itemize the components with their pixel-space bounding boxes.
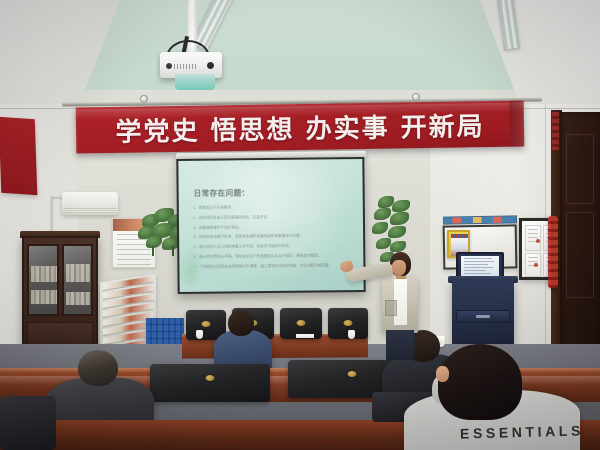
attendee-grey-coat-head [78, 350, 118, 386]
hoodie-brand-text: ESSENTIALS [460, 422, 584, 441]
slide-bullet: 2、班前班后会未认真开展落实到位，记录不全。 [193, 215, 353, 220]
ceiling-green-panel [60, 0, 550, 90]
projector-lens [175, 74, 215, 90]
meeting-room-photo: 学党史 悟思想 办实事 开新局 [0, 0, 600, 450]
projector-knob-left [166, 63, 172, 69]
projector-knob-right [207, 62, 214, 69]
room-door[interactable] [560, 112, 600, 356]
red-tassel-upper [552, 112, 559, 150]
red-slogan-banner: 学党史 悟思想 办实事 开新局 [76, 100, 525, 153]
whiteboard-header-strip [443, 215, 517, 224]
water-cup-2 [348, 330, 355, 339]
bookcase-glass-door-left[interactable] [27, 244, 59, 316]
plant-reflection-on-screen [178, 246, 203, 286]
chair-mid-1[interactable] [150, 364, 270, 402]
podium-drawer-handle[interactable] [476, 315, 490, 318]
slide-bullet: 3、设备维修维护不及时到位。 [193, 225, 353, 230]
slide-bullet: 6、部分岗位责任心不强，现场安全生产物品摆放杂乱及不规范，需做及时整改。 [193, 254, 353, 259]
projection-screen: 日常存在问题： » 1、佩戴标识不齐全要求。 2、班前班后会未认真开展落实到位，… [176, 157, 365, 294]
bookcase-glass-door-right[interactable] [62, 244, 93, 316]
presenter-jacket-pocket [385, 300, 397, 316]
slide-bullet: 1、佩戴标识不齐全要求。 [193, 205, 353, 210]
red-chinese-knot-tassels [548, 216, 558, 288]
slide-bullet: 4、现场安全设施不标准，现场安全通风设施有缺失现象需及时完善。 [193, 234, 353, 239]
chair-front-left[interactable] [0, 396, 56, 450]
attendee-blue-jacket-head [228, 310, 254, 336]
banner-fragment-left [0, 117, 37, 195]
attendee-essentials-hair [438, 344, 522, 420]
slide-bullet-list: 1、佩戴标识不齐全要求。 2、班前班后会未认真开展落实到位，记录不全。 3、设备… [193, 205, 354, 275]
projector-vent [174, 64, 198, 69]
slide-title-marker: » [241, 189, 244, 195]
presenter-legs [386, 330, 414, 360]
attendee-essentials-hand [436, 366, 449, 382]
rail-hook-right [412, 93, 420, 101]
projection-screen-surface: 日常存在问题： » 1、佩戴标识不齐全要求。 2、班前班后会未认真开展落实到位，… [178, 159, 363, 292]
air-conditioner-vent [64, 208, 116, 213]
slide-bullet: 7、个别岗位对现场安全风险辨识不清楚，施工现场安全防护措施、作业流程不够完善。 [193, 264, 353, 269]
slide-bullet: 5、部分岗位人员上岗前准备工作不足，安全学习培训不到位。 [193, 244, 353, 249]
rail-hook-left [140, 95, 148, 103]
paper-2 [296, 334, 314, 338]
banner-fold [510, 100, 525, 146]
presenter-face [392, 260, 406, 276]
water-cup-1 [196, 330, 203, 339]
